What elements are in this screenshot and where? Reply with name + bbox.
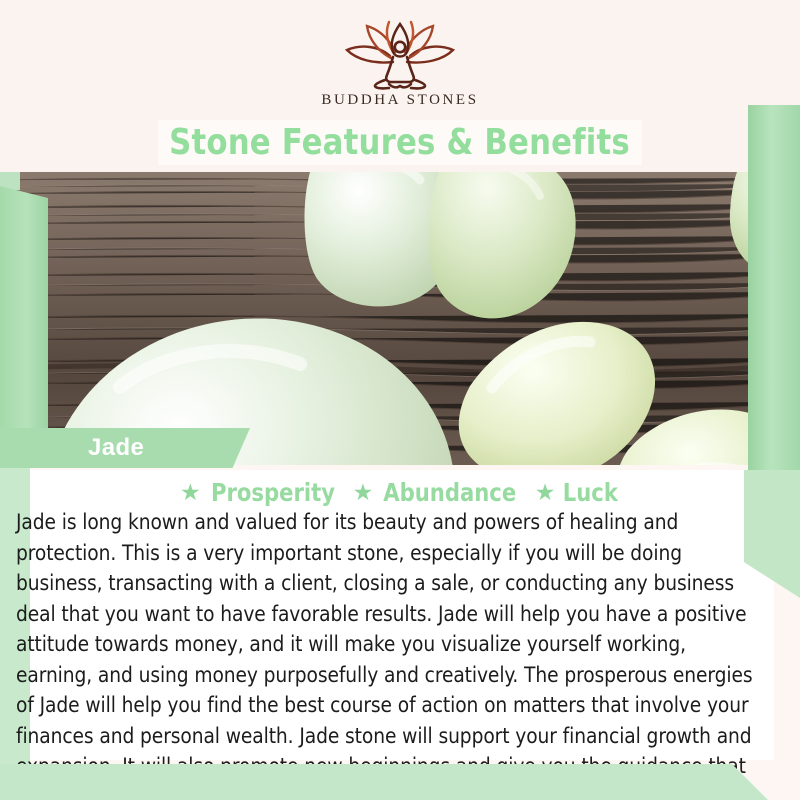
star-icon: ★ — [535, 481, 556, 504]
benefit-label: Luck — [563, 478, 618, 507]
page-title-bar: Stone Features & Benefits — [158, 120, 642, 165]
brand-name: BUDDHA STONES — [0, 92, 800, 109]
green-accent-bottom-band — [0, 764, 800, 800]
green-accent-left-band — [0, 186, 48, 468]
stone-name-band: Jade — [0, 428, 250, 468]
stone-photo — [0, 172, 800, 465]
benefit-item-prosperity: ★ Prosperity — [180, 478, 339, 507]
description-text: Jade is long known and valued for its be… — [16, 508, 761, 800]
brand-logo: BUDDHA STONES — [0, 18, 800, 109]
benefit-item-abundance: ★ Abundance — [353, 478, 521, 507]
page-title: Stone Features & Benefits — [170, 122, 631, 163]
star-icon: ★ — [353, 481, 374, 504]
header-section: BUDDHA STONES Stone Features & Benefits — [0, 0, 800, 172]
benefits-row: ★ Prosperity ★ Abundance ★ Luck — [0, 478, 800, 507]
lotus-meditation-icon — [335, 18, 465, 90]
star-icon: ★ — [180, 481, 201, 504]
benefit-label: Prosperity — [211, 478, 335, 507]
benefit-item-luck: ★ Luck — [535, 478, 620, 507]
green-accent-right-band — [748, 105, 800, 470]
stone-benefits-poster: BUDDHA STONES Stone Features & Benefits — [0, 0, 800, 800]
jade-stones-illustration — [0, 172, 800, 465]
stone-name-label: Jade — [88, 434, 144, 462]
benefit-label: Abundance — [384, 478, 517, 507]
